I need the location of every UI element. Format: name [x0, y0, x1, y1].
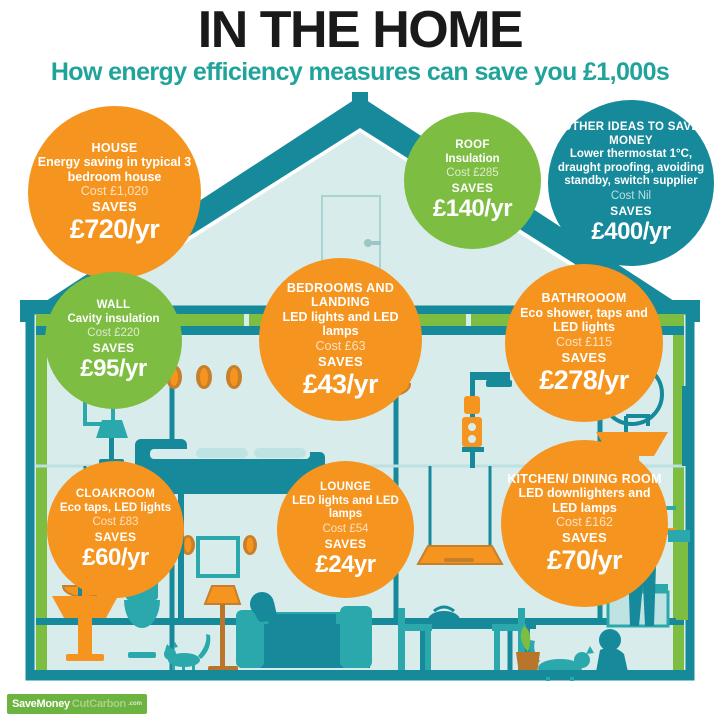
- bubble-kitchen-saves: SAVES: [562, 530, 607, 546]
- pillow-left: [196, 448, 248, 458]
- bubble-bedrooms-cost: Cost £63: [315, 339, 365, 354]
- bubble-roof-desc: Insulation: [445, 153, 499, 167]
- bubble-roof-value: £140/yr: [433, 195, 512, 222]
- bubble-lounge-desc: LED lights and LED lamps: [283, 495, 408, 522]
- bubble-wall-name: WALL: [97, 299, 131, 313]
- bubble-bathroom-saves: SAVES: [561, 350, 606, 366]
- shower-control: [464, 396, 480, 414]
- shower-head: [486, 380, 512, 387]
- towel-rail: [682, 386, 690, 466]
- ground-line: [30, 670, 690, 677]
- bubble-bedrooms-value: £43/yr: [303, 369, 378, 399]
- brand-logo[interactable]: SaveMoney CutCarbon .com: [7, 694, 147, 714]
- bubble-bathroom-name: BATHROOOM: [541, 291, 626, 306]
- bubble-wall[interactable]: WALL Cavity insulation Cost £220 SAVES £…: [45, 272, 182, 409]
- brand-logo-part2: CutCarbon: [72, 698, 126, 710]
- cloakroom-pedestal: [78, 618, 92, 656]
- bubble-cloakroom-desc: Eco taps, LED lights: [60, 502, 171, 516]
- floor-lamp-shade: [205, 586, 240, 604]
- bubble-wall-cost: Cost £220: [87, 326, 139, 341]
- bubble-bathroom[interactable]: BATHROOOM Eco shower, taps and LED light…: [505, 264, 663, 422]
- bubble-kitchen-desc: LED downlighters and LED lamps: [507, 486, 662, 515]
- bubble-lounge-value: £24yr: [315, 551, 375, 578]
- bubble-cloakroom-saves: SAVES: [95, 530, 137, 545]
- bubble-kitchen[interactable]: KITCHEN/ DINING ROOM LED downlighters an…: [501, 440, 668, 607]
- bubble-other-ideas-name: OTHER IDEAS TO SAVE MONEY: [554, 121, 708, 148]
- bubble-other-ideas-saves: SAVES: [610, 204, 652, 219]
- floor-lamp-stem: [220, 604, 225, 668]
- attic-door-handle: [364, 239, 372, 247]
- bubble-roof[interactable]: ROOF Insulation Cost £285 SAVES £140/yr: [404, 112, 541, 249]
- bubble-bedrooms-desc: LED lights and LED lamps: [265, 310, 416, 339]
- bubble-cloakroom-value: £60/yr: [82, 544, 148, 571]
- bubble-wall-value: £95/yr: [80, 355, 146, 382]
- bedroom-ceiling-lights: [166, 365, 242, 389]
- bubble-roof-cost: Cost £285: [446, 166, 498, 181]
- bubble-roof-saves: SAVES: [452, 181, 494, 196]
- bubble-lounge[interactable]: LOUNGE LED lights and LED lamps Cost £54…: [277, 461, 414, 598]
- bubble-house-name: HOUSE: [92, 141, 138, 156]
- bubble-other-ideas-value: £400/yr: [591, 218, 670, 245]
- bubble-cloakroom-cost: Cost £83: [92, 515, 138, 530]
- pillow-right: [254, 448, 306, 458]
- bubble-lounge-name: LOUNGE: [320, 481, 371, 495]
- bubble-wall-desc: Cavity insulation: [67, 313, 159, 327]
- bubble-bathroom-desc: Eco shower, taps and LED lights: [511, 306, 657, 335]
- bubble-house[interactable]: HOUSE Energy saving in typical 3 bedroom…: [28, 106, 201, 279]
- bubble-house-cost: Cost £1,020: [81, 184, 148, 199]
- bubble-cloakroom-name: CLOAKROOM: [76, 488, 155, 502]
- bubble-bedrooms-name: BEDROOMS AND LANDING: [265, 281, 416, 310]
- appliance-efficiency-strip: [676, 540, 688, 620]
- brand-logo-part1: SaveMoney: [12, 698, 70, 710]
- bubble-bedrooms[interactable]: BEDROOMS AND LANDING LED lights and LED …: [259, 258, 422, 421]
- bubble-bathroom-cost: Cost £115: [556, 335, 612, 350]
- infographic-canvas: IN THE HOME How energy efficiency measur…: [0, 0, 720, 720]
- bubble-kitchen-value: £70/yr: [547, 545, 622, 575]
- brand-logo-part3: .com: [128, 701, 142, 707]
- bubble-bathroom-value: £278/yr: [539, 365, 629, 395]
- bubble-kitchen-name: KITCHEN/ DINING ROOM: [507, 472, 662, 487]
- bubble-house-saves: SAVES: [92, 199, 137, 215]
- bubble-kitchen-cost: Cost £162: [556, 515, 613, 530]
- bubble-house-value: £720/yr: [70, 214, 160, 244]
- bubble-cloakroom[interactable]: CLOAKROOM Eco taps, LED lights Cost £83 …: [47, 461, 184, 598]
- bubble-bedrooms-saves: SAVES: [318, 354, 363, 370]
- bubble-other-ideas-desc: Lower thermostat 1°C, draught proofing, …: [554, 148, 708, 189]
- bubble-other-ideas[interactable]: OTHER IDEAS TO SAVE MONEY Lower thermost…: [548, 100, 714, 266]
- bubble-lounge-cost: Cost £54: [322, 522, 368, 537]
- bubble-house-desc: Energy saving in typical 3 bedroom house: [34, 155, 195, 184]
- bubble-roof-name: ROOF: [455, 139, 489, 153]
- bubble-wall-saves: SAVES: [93, 341, 135, 356]
- bubble-other-ideas-cost: Cost Nil: [611, 189, 651, 204]
- person-lounge-body: [268, 614, 336, 624]
- bubble-lounge-saves: SAVES: [325, 537, 367, 552]
